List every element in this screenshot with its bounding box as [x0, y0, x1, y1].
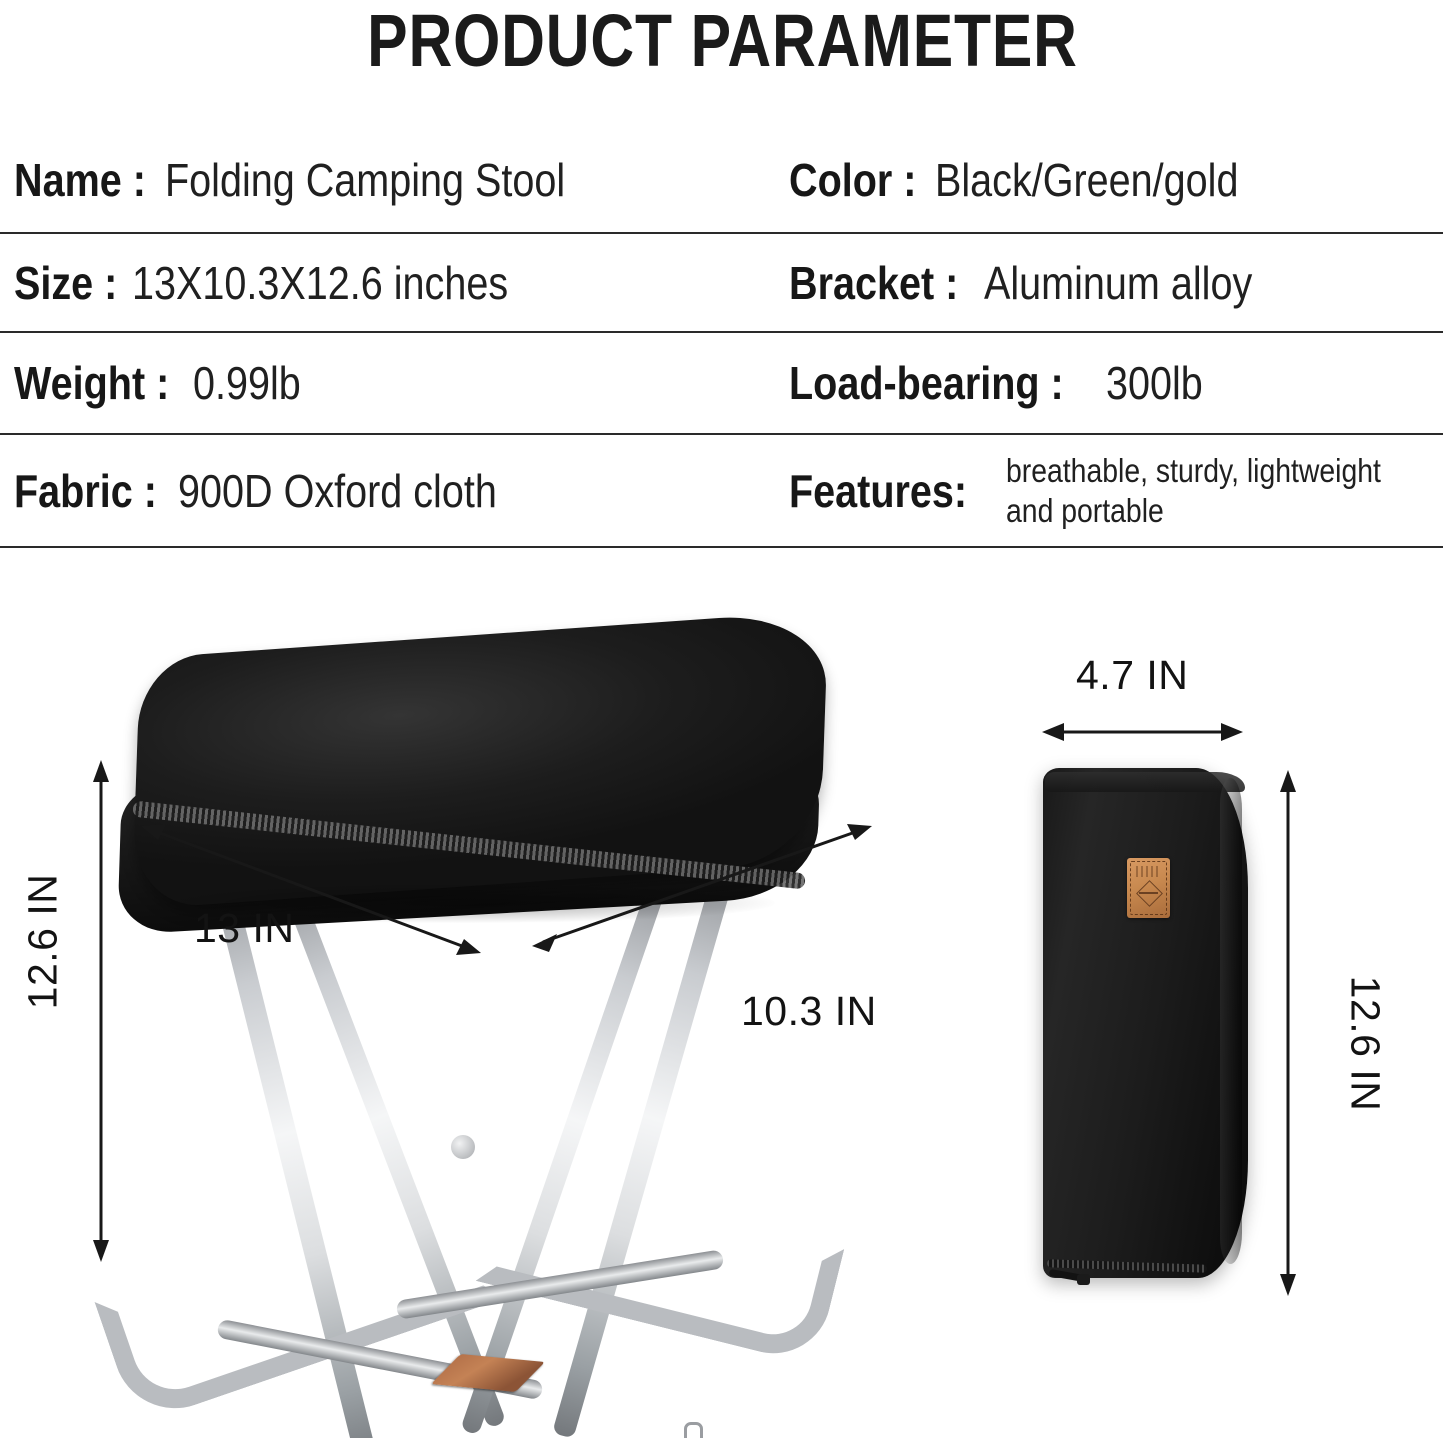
zipper-pull-stool	[684, 1422, 695, 1438]
spec-value: 900D Oxford cloth	[178, 466, 497, 516]
spec-cell-bracket: Bracket : Aluminum alloy	[775, 234, 1443, 331]
spec-cell-color: Color : Black/Green/gold	[775, 128, 1443, 232]
dimension-label-stool-width: 13 IN	[194, 905, 295, 952]
spec-table: Name : Folding Camping Stool Color : Bla…	[0, 128, 1443, 548]
spec-label: Weight :	[14, 358, 169, 408]
spec-cell-name: Name : Folding Camping Stool	[0, 128, 775, 232]
logo-bar-icon	[1139, 892, 1158, 894]
carry-bag-image	[1043, 768, 1248, 1296]
spec-label: Bracket :	[789, 258, 958, 308]
spec-label: Name :	[14, 155, 146, 205]
arrowhead-bag-width-right	[1221, 723, 1243, 741]
pull-knob	[1077, 1274, 1090, 1285]
dimension-label-stool-depth: 10.3 IN	[741, 988, 877, 1035]
spec-label: Size :	[14, 258, 117, 308]
dimension-label-bag-width: 4.7 IN	[1076, 652, 1188, 699]
table-row: Weight : 0.99lb Load-bearing : 300lb	[0, 333, 1443, 435]
carry-bag-zipper-pull	[1049, 1268, 1091, 1290]
dimension-label-stool-height: 12.6 IN	[20, 857, 67, 1027]
carry-bag-right-edge	[1220, 778, 1242, 1264]
carry-bag-body	[1043, 768, 1248, 1278]
arrowhead-bag-height-bottom	[1280, 1274, 1296, 1296]
product-parameter-infographic: PRODUCT PARAMETER Name : Folding Camping…	[0, 0, 1445, 1438]
spec-value: 13X10.3X12.6 inches	[132, 258, 508, 308]
spec-cell-fabric: Fabric : 900D Oxford cloth	[0, 435, 775, 546]
dimension-label-bag-height: 12.6 IN	[1342, 959, 1389, 1129]
carry-bag-top-seam	[1045, 772, 1245, 792]
spec-value: breathable, sturdy, lightweight and port…	[1006, 451, 1382, 531]
spec-cell-size: Size : 13X10.3X12.6 inches	[0, 234, 775, 331]
spec-cell-features: Features: breathable, sturdy, lightweigh…	[775, 435, 1443, 546]
spec-label: Load-bearing :	[789, 358, 1064, 408]
zipper-ring-icon	[684, 1422, 703, 1438]
spec-cell-load-bearing: Load-bearing : 300lb	[775, 333, 1443, 433]
table-row: Name : Folding Camping Stool Color : Bla…	[0, 128, 1443, 234]
spec-value: 0.99lb	[193, 358, 301, 408]
table-row: Fabric : 900D Oxford cloth Features: bre…	[0, 435, 1443, 548]
spec-label: Fabric :	[14, 466, 157, 516]
arrowhead-bag-height-top	[1280, 770, 1296, 792]
arrowhead-bag-width-left	[1042, 723, 1064, 741]
page-title: PRODUCT PARAMETER	[130, 2, 1315, 80]
patch-text-glyph	[1136, 866, 1161, 877]
spec-value: Aluminum alloy	[984, 258, 1252, 308]
spec-label: Features:	[789, 466, 967, 516]
spec-value: Black/Green/gold	[935, 155, 1238, 205]
spec-cell-weight: Weight : 0.99lb	[0, 333, 775, 433]
spec-value: 300lb	[1106, 358, 1203, 408]
product-image-area: 12.6 IN 13 IN 10.3 IN 4.7 IN 12.6 IN	[0, 560, 1445, 1438]
leather-logo-patch-bag	[1127, 858, 1170, 918]
spec-value: Folding Camping Stool	[165, 155, 565, 205]
stool-pivot-hub	[451, 1135, 475, 1159]
spec-label: Color :	[789, 155, 916, 205]
table-row: Size : 13X10.3X12.6 inches Bracket : Alu…	[0, 234, 1443, 333]
